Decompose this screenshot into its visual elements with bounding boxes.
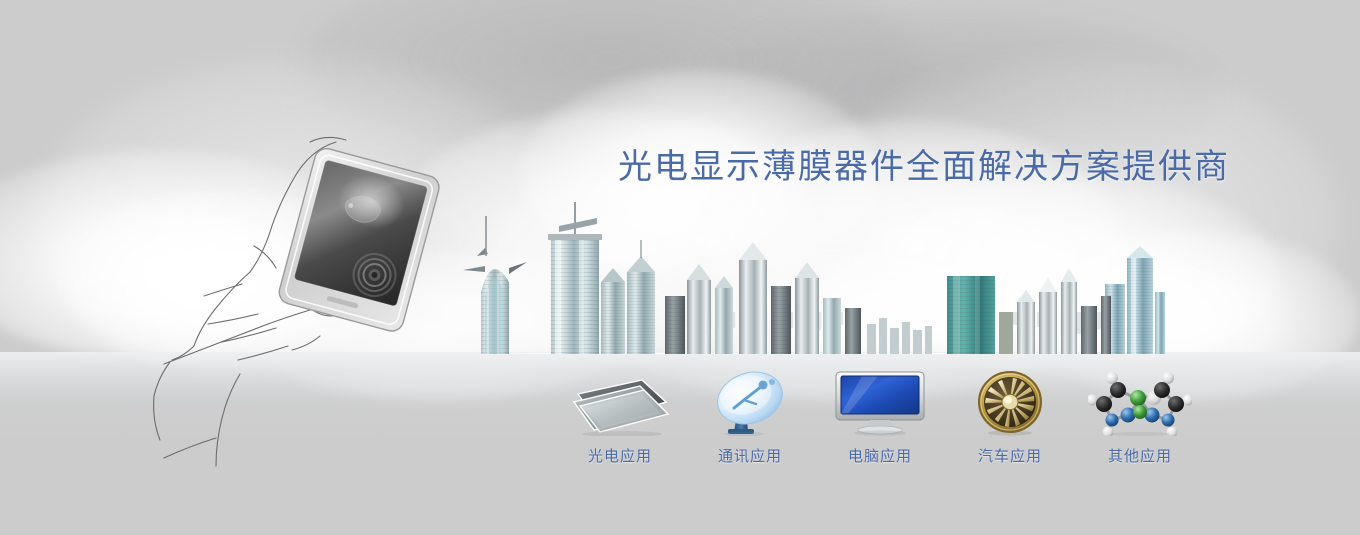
satellite-dish-icon: [695, 370, 805, 436]
application-label: 电脑应用: [848, 445, 912, 466]
hero-banner: 光电应用: [0, 0, 1360, 535]
application-label: 汽车应用: [978, 445, 1042, 466]
car-wheel-rim-icon: [955, 370, 1065, 436]
application-label: 通讯应用: [718, 445, 782, 466]
molecule-model-icon: [1085, 370, 1195, 436]
application-item-other[interactable]: 其他应用: [1080, 370, 1200, 466]
application-item-optoelectronic[interactable]: 光电应用: [560, 370, 680, 466]
application-label: 光电应用: [588, 445, 652, 466]
application-icon-row: 光电应用: [560, 356, 1200, 466]
stacked-film-sheets-icon: [565, 370, 675, 436]
computer-monitor-icon: [825, 370, 935, 436]
banner-headline: 光电显示薄膜器件全面解决方案提供商: [618, 139, 1230, 188]
application-label: 其他应用: [1108, 445, 1172, 466]
application-item-automotive[interactable]: 汽车应用: [950, 370, 1070, 466]
application-item-communication[interactable]: 通讯应用: [690, 370, 810, 466]
application-item-computer[interactable]: 电脑应用: [820, 370, 940, 466]
